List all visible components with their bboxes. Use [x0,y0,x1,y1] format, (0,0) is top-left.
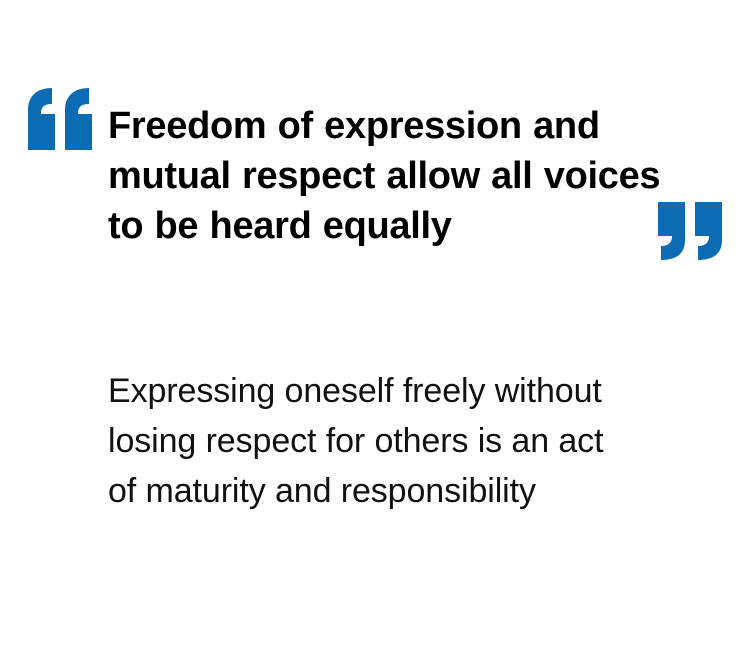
quote-card: Freedom of expression and mutual respect… [0,0,750,650]
quote-close-icon [658,202,722,260]
quote-body-text: Expressing oneself freely without losing… [108,366,608,516]
page-title: Freedom of expression and mutual respect… [108,101,668,251]
quote-open-icon [28,88,92,150]
